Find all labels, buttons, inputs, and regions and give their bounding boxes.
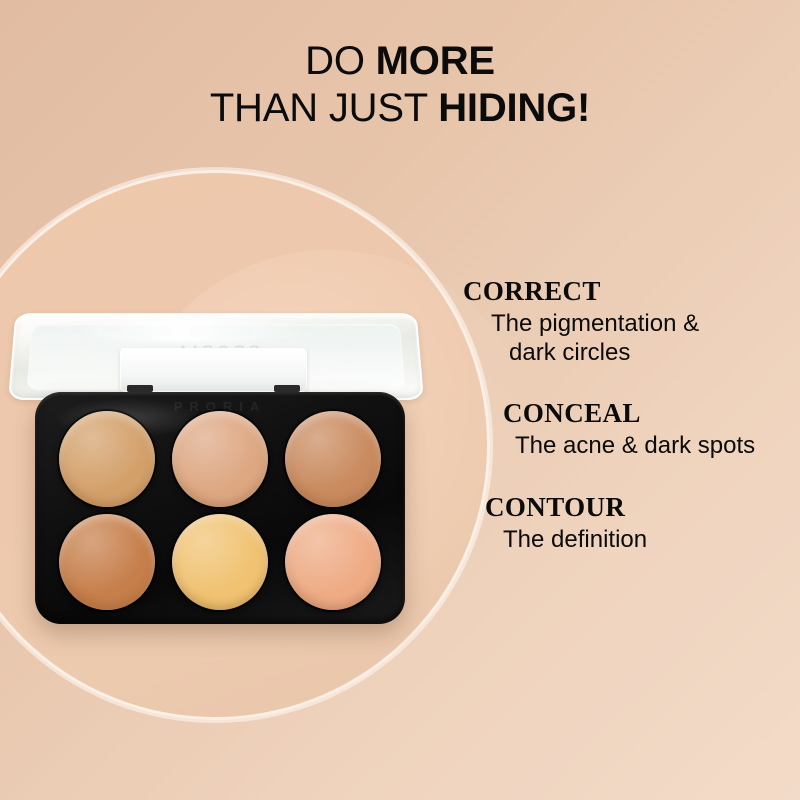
pan-5-yellow-corrector — [172, 514, 268, 610]
benefit-conceal-description-line-1: The acne & dark spots — [515, 431, 800, 460]
headline-line-1-plain: DO — [305, 39, 376, 83]
pan-3-caramel — [285, 411, 381, 507]
benefit-correct-description-line-1: The pigmentation & — [491, 309, 800, 338]
palette-latch-foot-right — [274, 385, 300, 392]
concealer-palette-product: PRORIA PRORIA — [0, 300, 440, 640]
palette-lid-highlight — [73, 319, 307, 343]
benefit-conceal-description: The acne & dark spots — [503, 431, 800, 460]
headline-line-2-plain: THAN JUST — [210, 86, 438, 130]
pan-cell — [53, 410, 160, 507]
pan-2-light-peach-tan — [172, 411, 268, 507]
headline: DO MORE THAN JUST HIDING! — [0, 38, 800, 132]
pan-6-light-peach — [285, 514, 381, 610]
benefit-correct-description-line-2: dark circles — [491, 338, 800, 367]
benefit-conceal-title: CONCEAL — [503, 398, 800, 429]
palette-latch-foot-left — [127, 385, 153, 392]
benefit-correct-description: The pigmentation & dark circles — [463, 309, 800, 368]
benefit-conceal: CONCEAL The acne & dark spots — [455, 398, 800, 460]
headline-line-1: DO MORE — [0, 38, 800, 85]
benefit-contour-description: The definition — [485, 525, 800, 554]
benefit-contour: CONTOUR The definition — [455, 492, 800, 554]
benefits-list: CORRECT The pigmentation & dark circles … — [455, 276, 800, 576]
benefit-contour-title: CONTOUR — [485, 492, 800, 523]
pan-cell — [53, 513, 160, 610]
palette-pan-grid — [53, 410, 387, 610]
product-banner: DO MORE THAN JUST HIDING! CORRECT The pi… — [0, 0, 800, 800]
pan-cell — [280, 513, 387, 610]
pan-1-tan — [59, 411, 155, 507]
headline-line-1-bold: MORE — [376, 39, 495, 83]
pan-4-deep-amber — [59, 514, 155, 610]
headline-line-2: THAN JUST HIDING! — [0, 85, 800, 132]
benefit-correct: CORRECT The pigmentation & dark circles — [455, 276, 800, 368]
pan-cell — [280, 410, 387, 507]
pan-cell — [166, 513, 273, 610]
palette-lid-latch — [120, 348, 307, 392]
palette-tray: PRORIA — [35, 392, 405, 624]
headline-line-2-bold: HIDING! — [438, 86, 590, 130]
benefit-contour-description-line-1: The definition — [503, 525, 800, 554]
benefit-correct-title: CORRECT — [463, 276, 800, 307]
pan-cell — [166, 410, 273, 507]
